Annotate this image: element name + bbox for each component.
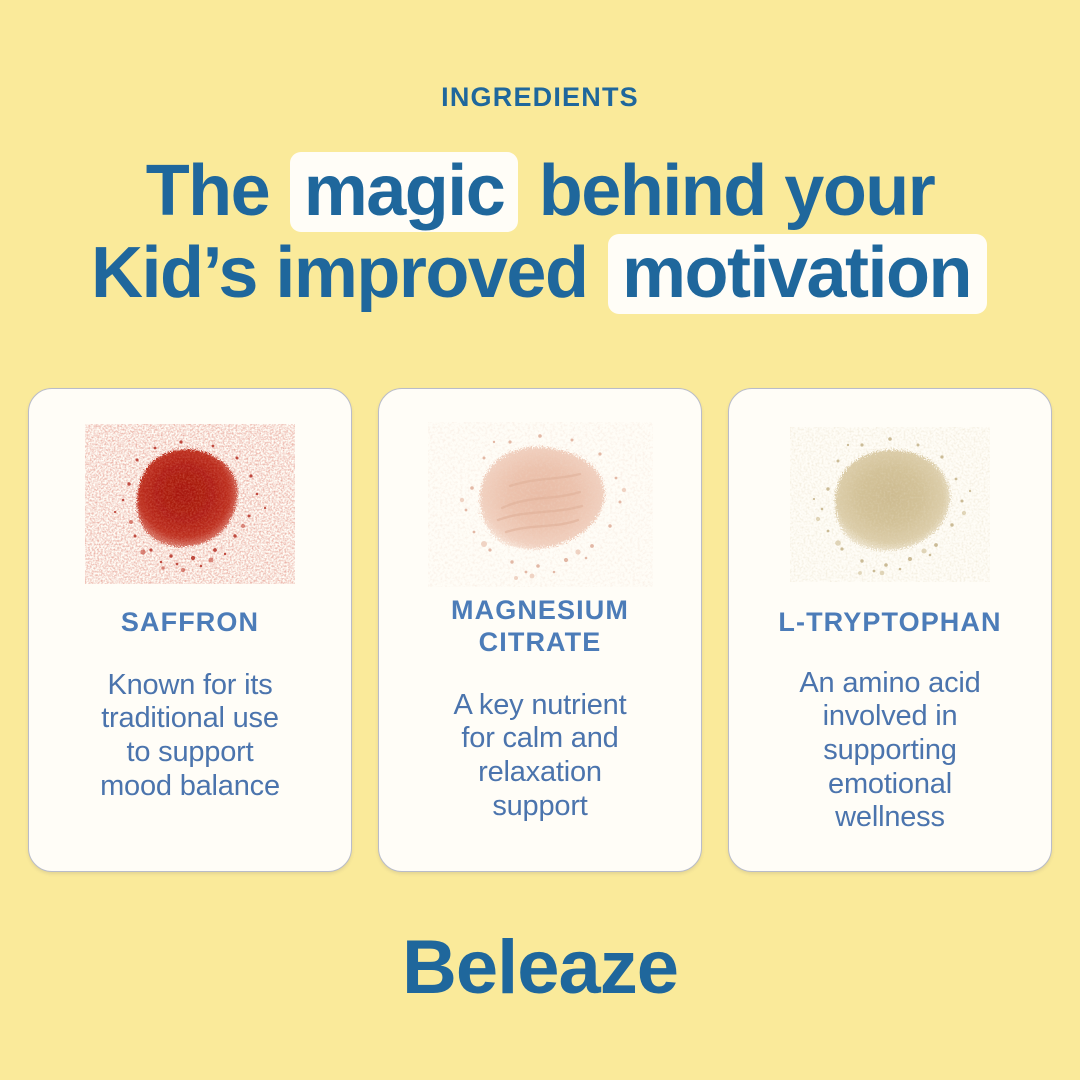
ingredient-card-list: SAFFRON Known for its traditional use to… <box>28 388 1052 872</box>
headline-highlight-motivation: motivation <box>608 234 987 314</box>
eyebrow-label: INGREDIENTS <box>0 84 1080 111</box>
ingredients-poster: INGREDIENTS The magic behind your Kid’s … <box>0 0 1080 1080</box>
headline-line-2: Kid’s improved motivation <box>0 234 1080 314</box>
ingredient-card-saffron[interactable]: SAFFRON Known for its traditional use to… <box>28 388 352 872</box>
ingredient-description: Known for its traditional use to support… <box>100 669 280 804</box>
headline-word-kids-improved: Kid’s improved <box>91 233 606 313</box>
ingredient-description: An amino acid involved in supporting emo… <box>799 667 980 835</box>
page-title: The magic behind your Kid’s improved mot… <box>0 152 1080 314</box>
brand-logo: Beleaze <box>0 930 1080 1006</box>
headline-word-the: The <box>146 151 288 231</box>
headline-highlight-magic: magic <box>290 152 519 232</box>
headline-line-1: The magic behind your <box>0 152 1080 232</box>
saffron-powder-image <box>75 419 305 589</box>
ingredient-description: A key nutrient for calm and relaxation s… <box>454 689 627 824</box>
l-tryptophan-powder-image <box>775 419 1005 589</box>
headline-word-behind-your: behind your <box>520 151 934 231</box>
ingredient-title: SAFFRON <box>121 607 259 639</box>
ingredient-card-l-tryptophan[interactable]: L-TRYPTOPHAN An amino acid involved in s… <box>728 388 1052 872</box>
ingredient-title: MAGNESIUM CITRATE <box>451 595 629 659</box>
ingredient-title: L-TRYPTOPHAN <box>778 607 1001 639</box>
magnesium-citrate-powder-image <box>425 419 655 589</box>
ingredient-card-magnesium-citrate[interactable]: MAGNESIUM CITRATE A key nutrient for cal… <box>378 388 702 872</box>
